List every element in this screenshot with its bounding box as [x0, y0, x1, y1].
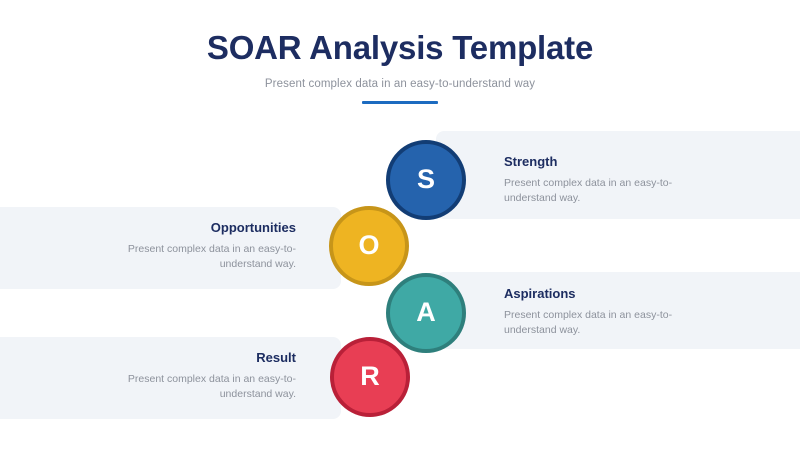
soar-entry-aspirations: Aspirations Present complex data in an e…: [504, 286, 722, 338]
soar-entry-strength: Strength Present complex data in an easy…: [504, 154, 722, 206]
slide-canvas: SOAR Analysis Template Present complex d…: [0, 0, 800, 450]
soar-circle-letter: O: [358, 232, 379, 259]
soar-entry-result: Result Present complex data in an easy-t…: [78, 350, 296, 402]
entry-heading: Result: [78, 350, 296, 366]
slide-header: SOAR Analysis Template Present complex d…: [0, 28, 800, 104]
soar-circle-aspirations[interactable]: A: [386, 273, 466, 353]
soar-circle-strength[interactable]: S: [386, 140, 466, 220]
title-accent-rule: [362, 101, 438, 104]
entry-body: Present complex data in an easy-to-under…: [78, 372, 296, 402]
soar-circle-letter: A: [416, 299, 436, 326]
entry-heading: Aspirations: [504, 286, 722, 302]
entry-heading: Opportunities: [78, 220, 296, 236]
page-subtitle: Present complex data in an easy-to-under…: [0, 76, 800, 92]
entry-body: Present complex data in an easy-to-under…: [504, 308, 722, 338]
soar-entry-opportunities: Opportunities Present complex data in an…: [78, 220, 296, 272]
entry-body: Present complex data in an easy-to-under…: [504, 176, 722, 206]
soar-circle-letter: S: [417, 166, 435, 193]
entry-heading: Strength: [504, 154, 722, 170]
soar-circle-letter: R: [360, 363, 380, 390]
soar-circle-opportunities[interactable]: O: [329, 206, 409, 286]
page-title: SOAR Analysis Template: [0, 28, 800, 68]
soar-circle-result[interactable]: R: [330, 337, 410, 417]
entry-body: Present complex data in an easy-to-under…: [78, 242, 296, 272]
